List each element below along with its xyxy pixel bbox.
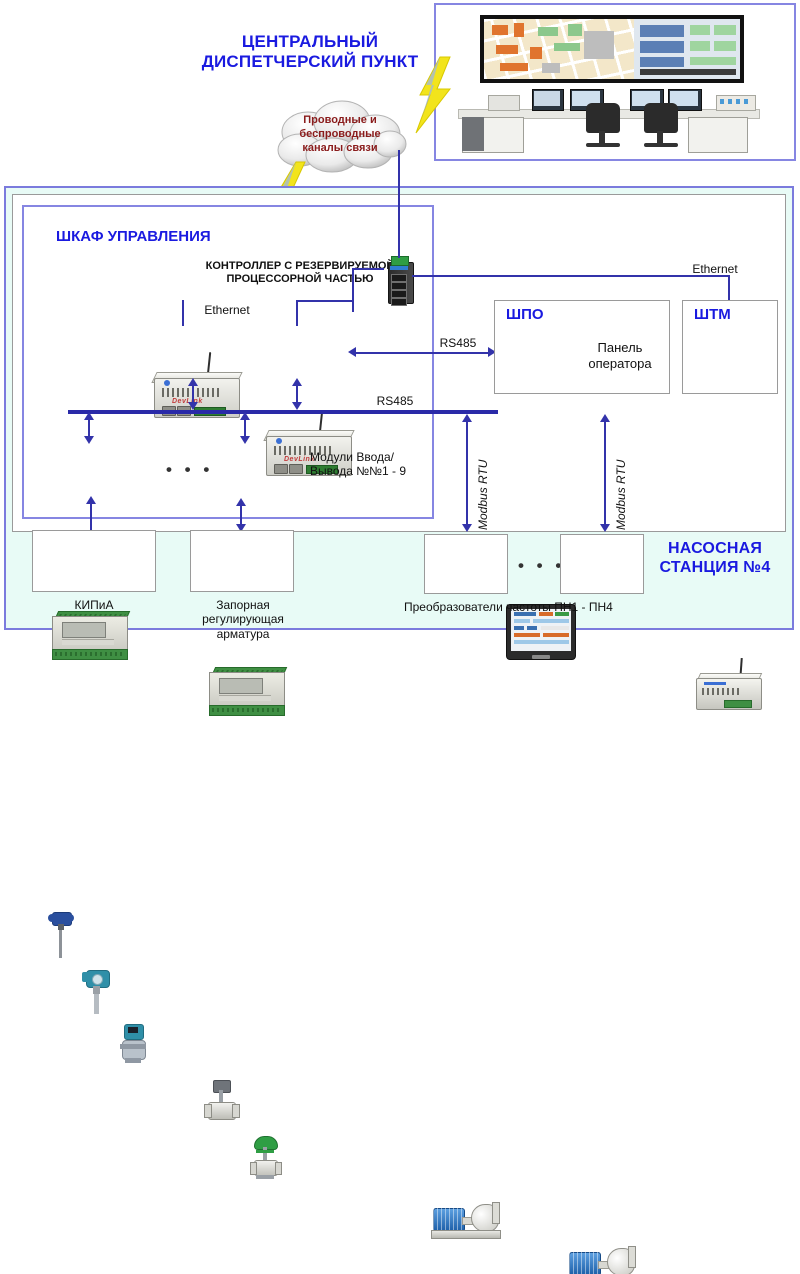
pump-box-last [560,534,644,594]
control-room-photo [434,3,796,161]
wireless-bolt-upper-icon [410,55,456,135]
modbus-right-label: Modbus RTU [614,460,628,530]
control-valve [248,1134,282,1190]
operator-desks [458,87,758,157]
diagram-canvas: ЦЕНТРАЛЬНЫЙ ДИСПЕТЧЕРСКИЙ ПУНКТ [0,0,800,637]
link-switch-left-v [352,268,354,312]
video-wall [480,15,744,83]
link-eth-span [296,300,354,302]
pumps-label: Преобразователи частоты ПН1 - ПН4 [404,600,684,614]
link-ctrl2-bus [292,378,302,410]
valves-box [190,530,294,592]
valves-label-line1: Запорная регулирующая [178,598,308,627]
valves-label-line2: арматура [178,627,308,641]
page-title: ЦЕНТРАЛЬНЫЙ ДИСПЕТЧЕРСКИЙ ПУНКТ [190,32,430,72]
pumps-ellipsis: • • • [518,556,565,576]
kipia-box [32,530,156,592]
link-modbus-left [462,414,474,532]
station-title-line2: СТАНЦИЯ №4 [640,559,790,578]
valves-label: Запорная регулирующая арматура [178,598,308,641]
io-module-last [205,662,291,718]
page-title-line1: ЦЕНТРАЛЬНЫЙ [190,32,430,52]
rs485-bus-label: RS485 [360,394,430,408]
cloud-label-line3: каналы связи [272,142,408,156]
link-switch-left-h [352,268,384,270]
link-cloud-to-switch [398,150,400,258]
link-eth-drop-2 [296,300,298,326]
station-title: НАСОСНАЯ СТАНЦИЯ №4 [640,540,790,578]
link-rs485-to-shpo [440,352,490,354]
io-ellipsis: • • • [166,460,213,480]
pressure-transmitter [80,966,114,1022]
shpo-caption-line2: оператора [578,356,662,372]
arrow-io1-field [86,496,96,504]
shpo-caption-line1: Панель [578,340,662,356]
pump-first [431,1198,501,1242]
ethernet-right-label: Ethernet [660,262,770,276]
ethernet-switch [382,256,416,302]
link-bus-io1 [84,412,94,444]
ethernet-left-label: Ethernet [182,303,272,317]
cloud-label-line2: беспроводные [272,128,408,142]
page-title-line2: ДИСПЕТЧЕРСКИЙ ПУНКТ [190,52,430,72]
shpo-caption: Панель оператора [578,340,662,371]
link-modbus-right [600,414,612,532]
pump-last [567,1242,637,1274]
link-eth-drop-1 [182,300,184,326]
io-modules-label-line2: Вывода №№1 - 9 [310,464,440,478]
shtm-title: ШТМ [694,306,731,323]
cloud-label-line1: Проводные и [272,114,408,128]
cabinet-title: ШКАФ УПРАВЛЕНИЯ [56,228,211,245]
temperature-sensor [44,910,78,966]
mimic-map [484,19,740,79]
link-ctrl1-bus [188,378,198,410]
shpo-title: ШПО [506,306,544,323]
pump-box-first [424,534,508,594]
io-module-first [48,606,134,662]
rs485-bus [68,410,498,414]
link-bus-io2 [240,412,250,444]
arrow-rs485-to-controller [348,347,356,357]
modbus-left-label: Modbus RTU [476,460,490,530]
flow-meter [116,1022,150,1078]
io-modules-label: Модули Ввода/ Вывода №№1 - 9 [310,450,440,479]
link-rs485-ctrl-h [352,352,440,354]
telemetry-device [694,668,764,714]
io-modules-label-line1: Модули Ввода/ [310,450,440,464]
station-title-line1: НАСОСНАЯ [640,540,790,559]
cloud-label: Проводные и беспроводные каналы связи [272,114,408,155]
link-io1-field [90,500,92,530]
rs485-top-label: RS485 [428,336,488,350]
link-io2-field [236,498,246,532]
kipia-label: КИПиА [32,598,156,612]
shutoff-valve [204,1078,238,1134]
